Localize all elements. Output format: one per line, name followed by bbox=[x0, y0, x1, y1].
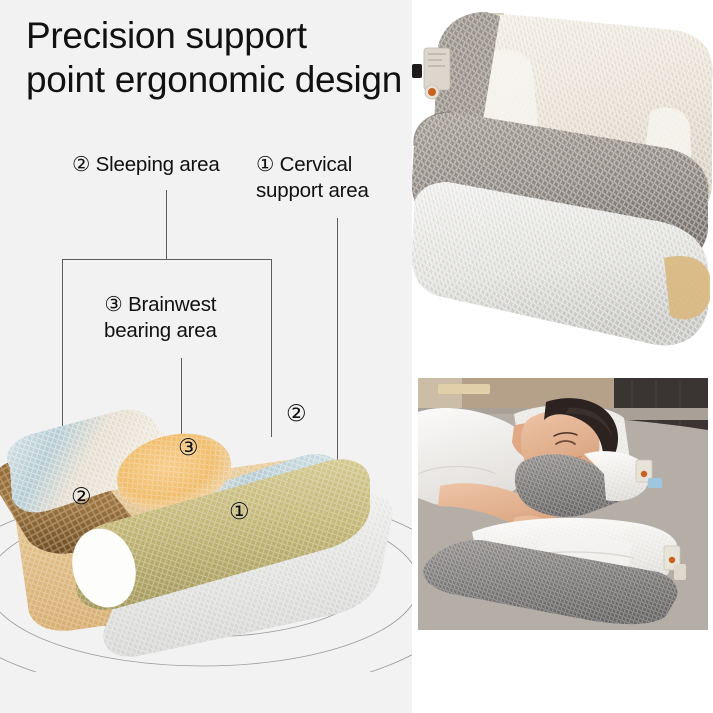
zone-marker-sleeping-left: ② bbox=[71, 483, 92, 510]
callout-brainwest-bearing-area: ③ Brainwest bearing area bbox=[104, 292, 217, 344]
diagram-panel: Precision support point ergonomic design… bbox=[0, 0, 412, 713]
page-title: Precision support point ergonomic design bbox=[26, 14, 412, 102]
pillow-illustration-svg bbox=[0, 372, 412, 672]
zone-marker-sleeping-right: ② bbox=[286, 400, 307, 427]
callout-cervical-support-area: ① Cervical support area bbox=[256, 152, 369, 204]
stacked-pillows-svg bbox=[412, 0, 713, 360]
callout-sleeping-area: ② Sleeping area bbox=[72, 152, 220, 178]
woman-sleeping-lifestyle-photo bbox=[418, 378, 708, 630]
stacked-pillows-product-photo bbox=[412, 0, 713, 360]
woman-sleeping-svg bbox=[418, 378, 708, 630]
infographic-canvas: Precision support point ergonomic design… bbox=[0, 0, 713, 713]
zone-marker-brainwest: ③ bbox=[178, 434, 199, 461]
leader-line-sleeping-vertical bbox=[166, 190, 167, 260]
tan-sliver bbox=[664, 256, 710, 319]
zone-marker-cervical: ① bbox=[229, 498, 250, 525]
pillow-illustration: ② ② ③ ① bbox=[0, 372, 412, 672]
bracket-horizontal bbox=[62, 259, 272, 260]
